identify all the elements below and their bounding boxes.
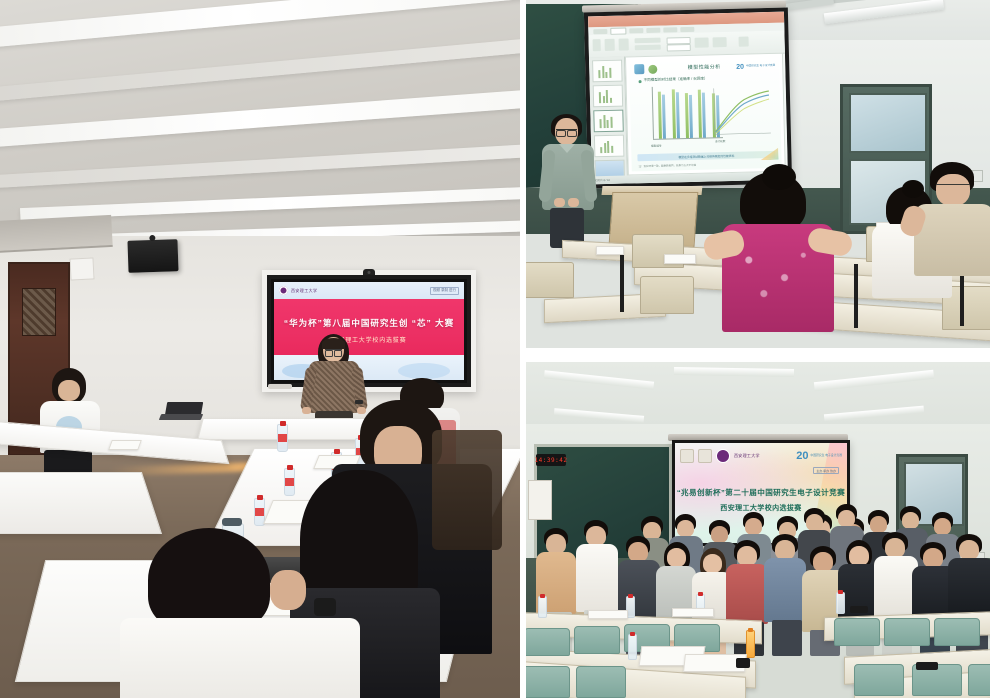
wooden-chair [432, 430, 502, 550]
head [813, 552, 833, 572]
desk-frame [620, 252, 624, 312]
slide-header: 西安理工大学 20 中国研究生 电子设计竞赛 [680, 447, 842, 465]
head [737, 546, 757, 566]
red-shirt [726, 564, 768, 624]
classroom-chair [524, 666, 570, 698]
ribbon-tab-active[interactable] [610, 27, 626, 34]
document [588, 610, 628, 619]
ribbon-tab[interactable] [680, 26, 694, 31]
slide-title: 模型性能分析 [688, 63, 721, 71]
seated-student [38, 368, 102, 478]
notice-board [528, 480, 552, 520]
classroom-chair [834, 618, 880, 646]
head [849, 546, 869, 566]
thumbnail-chart-icon [599, 90, 612, 103]
university-name: 西安理工大学 [291, 288, 317, 294]
water-bottle [284, 468, 295, 496]
seat-back [640, 276, 694, 314]
ribbon-tab[interactable] [629, 28, 643, 33]
bar-group [685, 92, 693, 137]
wall-display: 西安理工大学 视频 录制 进行 “华为杯”第八届中国研究生创 “芯” 大赛 西安… [267, 275, 471, 387]
head [885, 538, 905, 558]
head [703, 554, 722, 573]
slide-bullet: 不同模型的对比结果（准确率 / 召回率） [644, 77, 708, 84]
document [672, 608, 714, 617]
toolbar-button[interactable] [739, 37, 749, 47]
sponsor-logo-icon [680, 449, 694, 463]
toolbar-button[interactable] [713, 37, 727, 47]
ribbon-tab[interactable] [646, 27, 660, 32]
wall-plate [69, 257, 94, 280]
head [959, 540, 979, 560]
photo-collage: 西安理工大学 视频 录制 进行 “华为杯”第八届中国研究生创 “芯” 大赛 西安… [0, 0, 990, 698]
slide-header: 西安理工大学 视频 录制 进行 [274, 282, 464, 299]
slide-tag: 主办 承办 协办 [813, 467, 839, 474]
slide-thumbnail[interactable] [592, 60, 623, 83]
smartphone [916, 662, 938, 670]
classroom-chair [934, 618, 980, 646]
glasses-icon [936, 184, 970, 191]
ribbon-tab[interactable] [663, 27, 677, 32]
orange-drink-bottle [746, 630, 755, 658]
university-logo: 西安理工大学 [279, 286, 317, 295]
hair-bun [762, 164, 796, 190]
classroom-chair [854, 664, 904, 696]
panel-group-photo: 14:39:42 西安理工大学 20 中国研究生 电子设计竞赛 主办 承办 协办 [524, 362, 990, 698]
competition-badge: 20 中国研究生 电子设计竞赛 [796, 451, 842, 462]
classroom-chair [968, 664, 990, 696]
slide-thumbnail-pane[interactable] [589, 57, 628, 177]
standing-presenter [542, 118, 594, 246]
desk-frame [854, 264, 858, 328]
classroom-chair [576, 666, 626, 698]
line-chart: 迭代轮数 [706, 85, 773, 143]
slide-footer [274, 355, 464, 380]
seated-student-foreground [120, 528, 350, 698]
classroom-chair [524, 628, 570, 656]
door-window [849, 93, 927, 153]
status-slide-count: 幻灯片 8 / 16 [595, 178, 610, 182]
toolbar-button[interactable] [605, 39, 615, 51]
display-stand [268, 384, 292, 389]
air-vent [0, 215, 113, 253]
current-slide: 模型性能分析 20 中国研究生 电子设计竞赛 不同模型的对比结果（准确率 / 召… [629, 57, 782, 172]
paper-sheet [664, 254, 696, 264]
toolbar-field[interactable] [635, 45, 661, 51]
line-chart-xlabel: 迭代轮数 [715, 139, 725, 143]
slide-title-line1: “兆易创新杯”第二十届中国研究生电子设计竞赛 [677, 487, 845, 498]
slide-title-main: “华为杯”第八届中国研究生创 “芯” 大赛 [284, 317, 454, 329]
thumbnail-chart-icon [599, 115, 612, 128]
fringe [322, 338, 345, 349]
conference-table [0, 472, 162, 534]
toolbar-field[interactable] [635, 38, 661, 44]
hand-right [568, 198, 579, 207]
wall-speaker [127, 239, 178, 273]
competition-badge: 20 中国研究生 电子设计竞赛 [736, 63, 775, 71]
panel-classroom-presentation: 模型性能分析 20 中国研究生 电子设计竞赛 不同模型的对比结果（准确率 / 召… [524, 0, 990, 348]
y-axis [652, 87, 654, 139]
blue-shirt [764, 558, 806, 622]
sponsor-logo-icon [698, 449, 712, 463]
hair [148, 528, 270, 632]
head [923, 548, 943, 568]
slide-footer-text: 模型在多组测试数据上均保持稳定的性能表现 [678, 153, 734, 158]
toolbar-field[interactable] [667, 44, 691, 52]
glasses-icon [556, 129, 577, 135]
head [628, 542, 648, 562]
face [58, 380, 80, 401]
slide-footer-band: 模型在多组测试数据上均保持稳定的性能表现 [637, 151, 775, 161]
ribbon-tab[interactable] [593, 28, 607, 33]
badge-text: 中国研究生 电子设计竞赛 [810, 454, 842, 457]
slide-header-tag: 视频 录制 进行 [430, 287, 459, 295]
seat-back [524, 262, 574, 298]
seated-judge [722, 172, 830, 332]
presentation-slide: 西安理工大学 视频 录制 进行 “华为杯”第八届中国研究生创 “芯” 大赛 西安… [274, 282, 464, 380]
water-bottle [277, 424, 288, 452]
university-seal-icon [716, 449, 730, 463]
glasses-icon [325, 349, 342, 355]
torso [576, 544, 618, 612]
slide-thumbnail[interactable] [593, 85, 624, 108]
badge-number: 20 [796, 451, 808, 462]
laptop-base [159, 414, 203, 420]
head [586, 526, 606, 546]
organizer-logos: 西安理工大学 [680, 449, 760, 463]
panel-seminar-room: 西安理工大学 视频 录制 进行 “华为杯”第八届中国研究生创 “芯” 大赛 西安… [0, 0, 520, 698]
badge-text: 中国研究生 电子设计竞赛 [746, 65, 775, 69]
legs [772, 620, 802, 656]
toolbar-button[interactable] [593, 39, 601, 51]
projection-screen: 模型性能分析 20 中国研究生 电子设计竞赛 不同模型的对比结果（准确率 / 召… [584, 8, 792, 189]
clock-time: 14:39:42 [535, 457, 568, 464]
led-clock: 14:39:42 [536, 454, 566, 466]
door-glass [22, 288, 56, 336]
badge-number: 20 [736, 64, 744, 71]
water-bottle [836, 592, 845, 614]
thumbnail-chart-icon [600, 141, 613, 153]
seated-judge [916, 162, 990, 274]
bar-group [671, 89, 679, 138]
head [775, 540, 795, 560]
paper-sheet [596, 246, 624, 255]
shaker-lid [222, 518, 242, 526]
smartphone [736, 658, 750, 668]
slide-logos [634, 64, 657, 75]
toolbar-button[interactable] [695, 37, 709, 47]
smartphone [850, 606, 868, 613]
bar-chart-xlabel: 模型编号 [651, 144, 661, 148]
head [546, 534, 566, 554]
bar-group [658, 91, 666, 138]
toolbar-button[interactable] [619, 38, 629, 50]
hand-left [302, 407, 311, 414]
torso [120, 618, 360, 698]
wall-display-frame: 西安理工大学 视频 录制 进行 “华为杯”第八届中国研究生创 “芯” 大赛 西安… [262, 270, 476, 392]
slide-thumbnail-selected[interactable] [593, 110, 624, 133]
slide-decor-shape [398, 363, 450, 379]
head [667, 548, 686, 567]
hand-left [554, 198, 565, 207]
classroom-chair [884, 618, 930, 646]
thumbnail-chart-icon [598, 66, 611, 78]
panel-gutter-horizontal [520, 348, 990, 362]
slide-note: 注：实验环境一致，超参数相同，结果为五次平均值 [639, 163, 697, 168]
slide-canvas: 模型性能分析 20 中国研究生 电子设计竞赛 不同模型的对比结果（准确率 / 召… [625, 53, 786, 176]
powerpoint-window: 模型性能分析 20 中国研究生 电子设计竞赛 不同模型的对比结果（准确率 / 召… [588, 12, 788, 185]
university-seal-icon [279, 286, 288, 295]
water-bottle [628, 634, 637, 660]
classroom-chair [574, 626, 620, 654]
ear-neck [270, 570, 306, 610]
water-bottle [538, 596, 547, 618]
line-chart-svg [706, 85, 773, 143]
university-name: 西安理工大学 [734, 453, 760, 459]
paper-sheet [108, 440, 142, 450]
laptop [160, 414, 202, 430]
slide-title-banner: “华为杯”第八届中国研究生创 “芯” 大赛 西安理工大学校内选拔赛 [274, 299, 464, 361]
slide-thumbnail[interactable] [594, 135, 625, 158]
